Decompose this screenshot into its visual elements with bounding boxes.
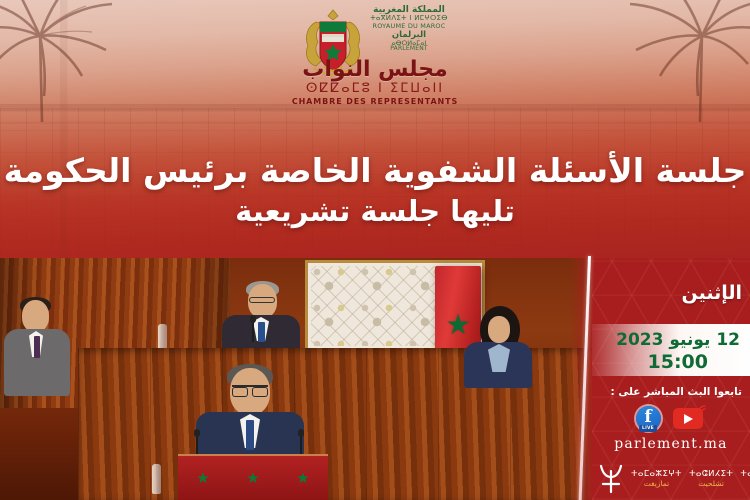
palm-tree-icon-left <box>0 0 172 122</box>
session-day: الإثنين <box>681 282 742 304</box>
tamazight-arabic-1: تمازيغت <box>644 480 669 488</box>
house-name-french: CHAMBRE DES REPRESENTANTS <box>255 97 495 106</box>
social-links: f LIVE <box>592 404 750 432</box>
session-president <box>222 284 300 358</box>
tamazight-language-row: ⵜⴰⵎⴰⵣⵉⵖⵜ تمازيغت ⵜⴰⵛⵍⵃⵉⵜ تشلحيت ⵜⴰⵔⵉⴼⵉⵜ … <box>592 460 750 498</box>
left-official-tie <box>34 336 40 358</box>
amazigh-yaz-icon <box>598 464 624 494</box>
rostrum-star-1: ★ <box>196 469 209 487</box>
house-name-tifinagh: ⵙⵇⵇⴰⵎⵓ ⵏ ⵉⵎⵡⴰⵏⵏ <box>255 81 495 96</box>
facebook-f-glyph: f <box>644 409 651 426</box>
palm-tree-icon-right <box>570 0 750 122</box>
seated-official-woman <box>458 310 538 388</box>
play-triangle-icon <box>684 414 693 424</box>
speaker-tie <box>246 420 254 450</box>
tamazight-arabic-2: تشلحيت <box>698 480 724 488</box>
broadcast-waves-icon <box>695 402 709 416</box>
session-date: 12 يونيو 2023 <box>616 330 740 350</box>
tamazight-variant-1: ⵜⴰⵎⴰⵣⵉⵖⵜ تمازيغت <box>631 470 682 488</box>
top-banner: المملكة المغربية ⵜⴰⴳⵍⴷⵉⵜ ⵏ ⵍⵎⵖⵔⵉⴱ ROYAUM… <box>0 0 750 258</box>
left-official-head <box>22 300 49 332</box>
seated-official-left <box>4 300 70 396</box>
rostrum-emblem-band: ★ ★ ★ <box>178 454 328 500</box>
facebook-live-icon[interactable]: f LIVE <box>636 406 661 431</box>
house-of-representatives-title: مجلس النواب ⵙⵇⵇⴰⵎⵓ ⵏ ⵉⵎⵡⴰⵏⵏ CHAMBRE DES … <box>255 57 495 106</box>
info-sidebar: الإثنين 12 يونيو 2023 15:00 تابعوا البث … <box>592 258 750 500</box>
facebook-live-badge: LIVE <box>639 425 657 432</box>
tamazight-variant-2: ⵜⴰⵛⵍⵃⵉⵜ تشلحيت <box>689 470 733 488</box>
headline-line-1: جلسة الأسئلة الشفوية الخاصة برئيس الحكوم… <box>0 150 750 191</box>
speaker-glasses-icon <box>232 385 268 393</box>
president-tie <box>258 322 265 342</box>
logo-text-block: المملكة المغربية ⵜⴰⴳⵍⴷⵉⵜ ⵏ ⵍⵎⵖⵔⵉⴱ ROYAUM… <box>370 6 448 53</box>
water-bottle-rostrum <box>152 464 161 494</box>
tamazight-variant-3: ⵜⴰⵔⵉⴼⵉⵜ تريفيت <box>740 470 750 488</box>
session-photo: ★ <box>0 258 596 500</box>
follow-live-label: تابعوا البث المباشر على : <box>611 386 742 398</box>
microphone-president <box>252 320 254 342</box>
headline-line-2: تليها جلسة تشريعية <box>0 193 750 231</box>
rostrum-star-3: ★ <box>296 469 309 487</box>
tamazight-tifinagh-3: ⵜⴰⵔⵉⴼⵉⵜ <box>740 470 750 479</box>
water-bottle-dais <box>158 324 167 350</box>
parliament-name-french: PARLEMENT <box>390 46 428 52</box>
session-time: 15:00 <box>648 351 708 373</box>
poster-root: المملكة المغربية ⵜⴰⴳⵍⴷⵉⵜ ⵏ ⵍⵎⵖⵔⵉⴱ ROYAUM… <box>0 0 750 500</box>
rostrum-star-2: ★ <box>246 469 259 487</box>
president-glasses-icon <box>249 297 275 303</box>
house-name-arabic: مجلس النواب <box>255 57 495 82</box>
youtube-live-icon[interactable] <box>673 406 707 430</box>
kingdom-name-french: ROYAUME DU MAROC <box>373 23 446 30</box>
woman-face <box>488 316 510 343</box>
event-headline: جلسة الأسئلة الشفوية الخاصة برئيس الحكوم… <box>0 150 750 231</box>
website-url[interactable]: parlement.ma <box>592 436 750 452</box>
